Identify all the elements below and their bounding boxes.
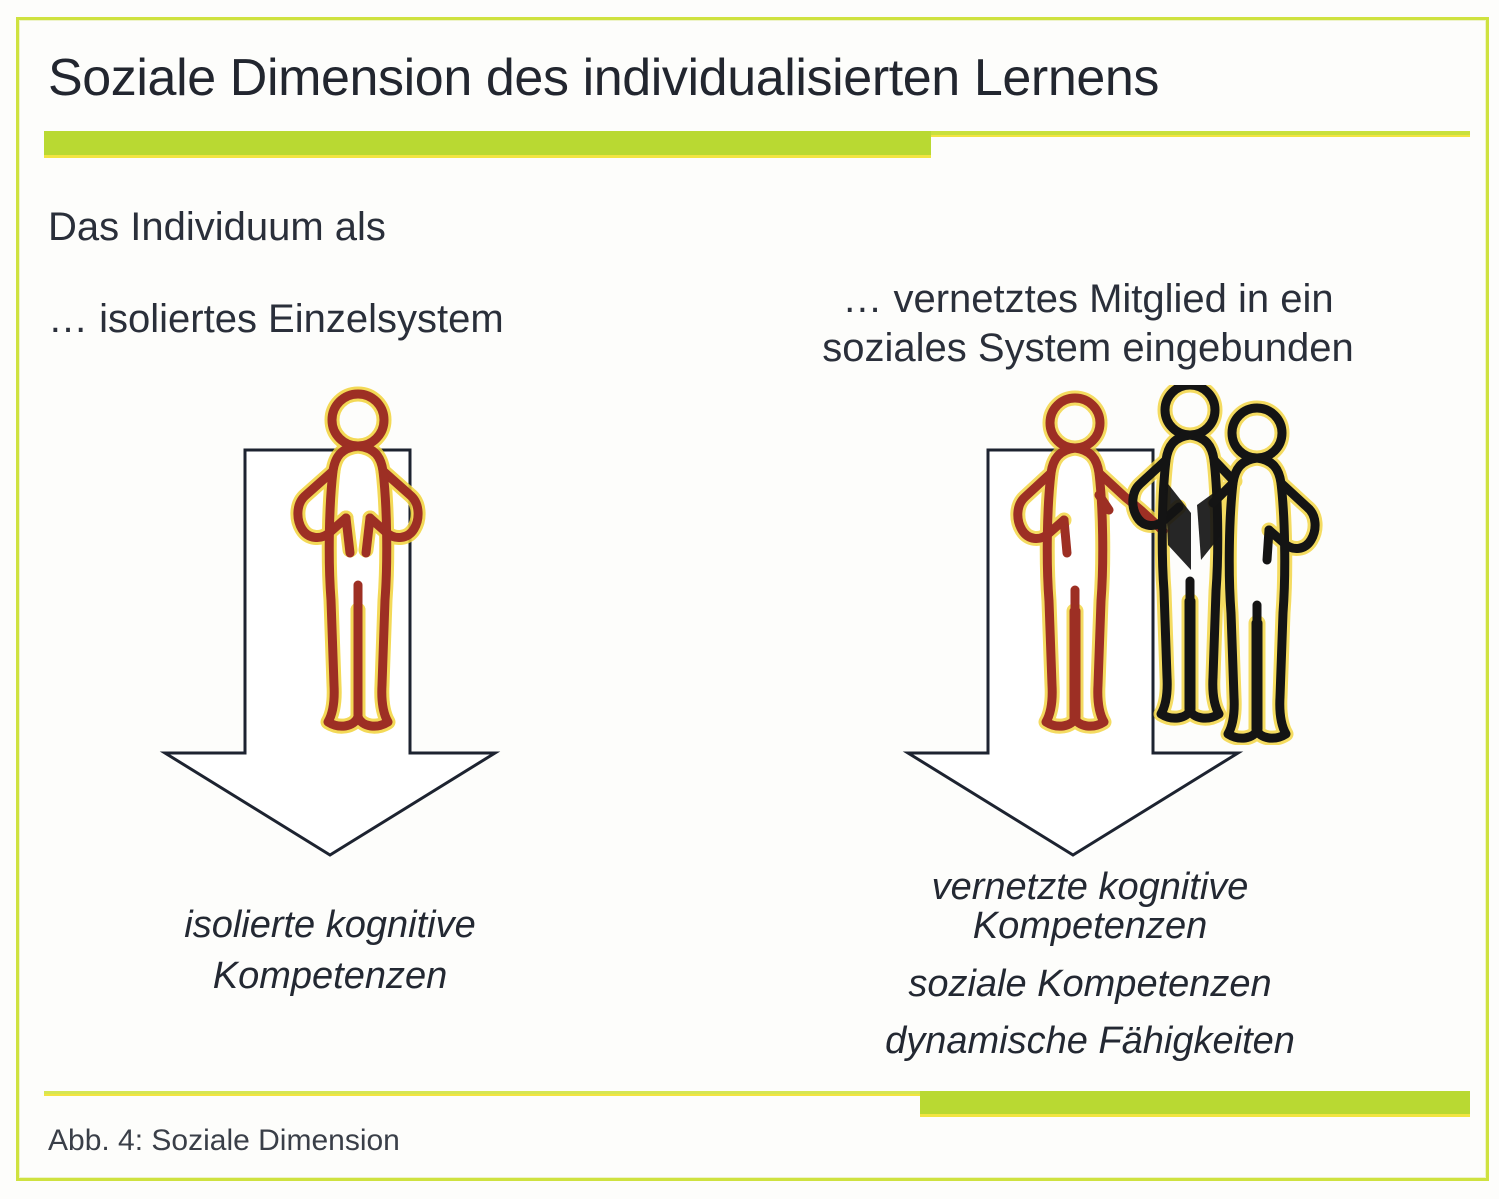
left-results: isolierte kognitive Kompetenzen	[100, 900, 560, 1001]
right-results-cognitive: vernetzte kognitive Kompetenzen	[840, 868, 1340, 946]
page-title: Soziale Dimension des individualisierten…	[48, 48, 1159, 108]
figure-caption: Abb. 4: Soziale Dimension	[48, 1124, 400, 1158]
slide-canvas: Soziale Dimension des individualisierten…	[0, 0, 1499, 1199]
right-result-dynamic: dynamische Fähigkeiten	[830, 1020, 1350, 1063]
right-result-line-2: Kompetenzen	[840, 907, 1340, 946]
left-result-line-2: Kompetenzen	[100, 951, 560, 1002]
group-of-three-people-icon	[1005, 385, 1335, 745]
left-result-line-1: isolierte kognitive	[100, 900, 560, 951]
left-column-heading: … isoliertes Einzelsystem	[48, 297, 504, 342]
lead-text: Das Individuum als	[48, 205, 386, 250]
footer-accent-bar	[920, 1091, 1470, 1117]
right-column-heading: … vernetztes Mitglied in ein soziales Sy…	[768, 275, 1408, 373]
header-accent-bar	[44, 131, 931, 158]
single-person-icon	[288, 385, 428, 740]
footer-accent-rule	[44, 1091, 920, 1096]
header-accent-rule	[931, 131, 1470, 137]
right-result-line-1: vernetzte kognitive	[840, 868, 1340, 907]
right-column-heading-line2: soziales System eingebunden	[768, 324, 1408, 373]
right-result-social: soziale Kompetenzen	[840, 963, 1340, 1006]
right-column-heading-line1: … vernetztes Mitglied in ein	[768, 275, 1408, 324]
